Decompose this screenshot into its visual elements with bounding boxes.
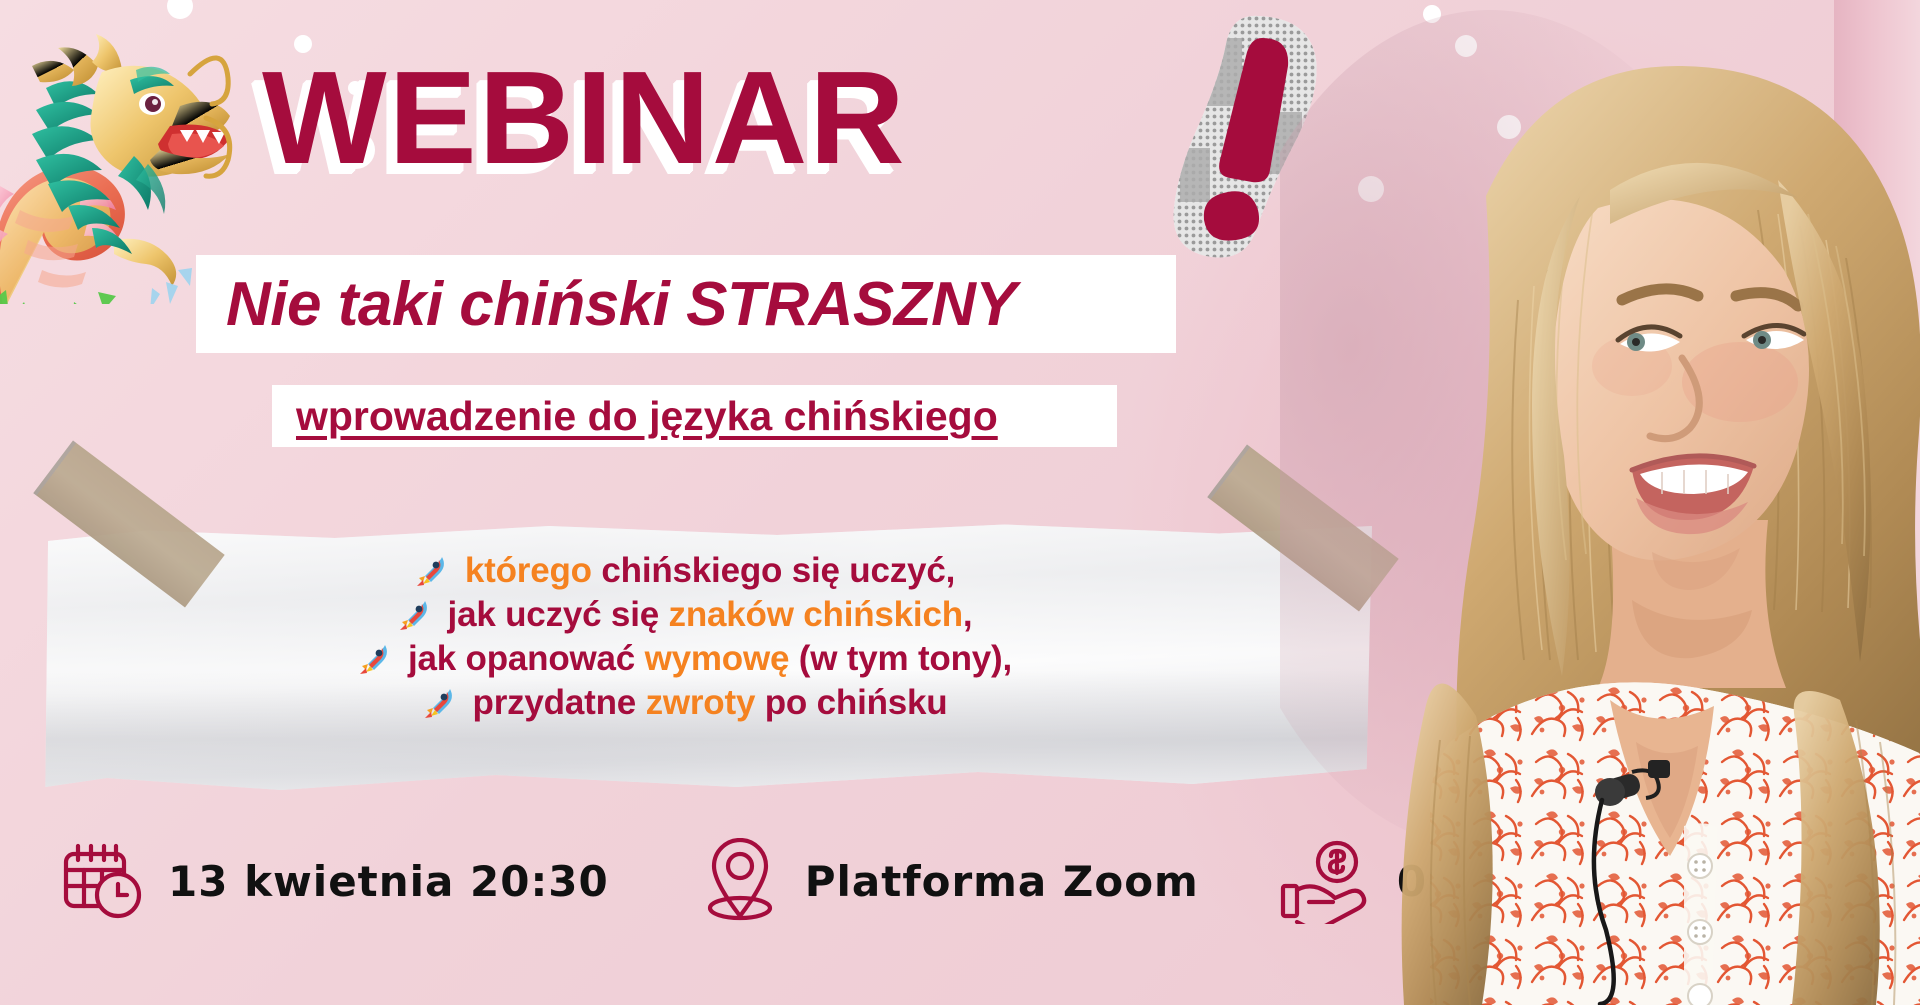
rocket-icon <box>423 686 457 720</box>
event-details-row: 13 kwietnia 20:30 Platforma Zoom 0 zł <box>60 838 1485 924</box>
rocket-icon <box>415 554 449 588</box>
location-pin-icon <box>697 838 783 924</box>
list-item: którego chińskiego się uczyć, <box>415 551 955 591</box>
page-title: WEBINAR <box>262 52 907 184</box>
list-item-label: jak uczyć się znaków chińskich, <box>448 595 973 635</box>
intro-band: wprowadzenie do języka chińskiego <box>272 385 1117 447</box>
presenter-photo <box>1280 0 1920 1005</box>
torn-paper-banner: którego chińskiego się uczyć, jak uczyć … <box>40 505 1380 805</box>
calendar-clock-icon <box>60 838 146 924</box>
list-item-label: jak opanować wymowę (w tym tony), <box>408 639 1012 679</box>
event-detail-label: Platforma Zoom <box>805 857 1199 906</box>
event-detail-label: 13 kwietnia 20:30 <box>168 857 609 906</box>
poster-canvas: WEBINAR Nie taki chiński STRASZNY wprowa… <box>0 0 1920 1005</box>
subtitle-text: Nie taki chiński STRASZNY <box>226 269 1016 340</box>
rocket-icon <box>398 598 432 632</box>
intro-text: wprowadzenie do języka chińskiego <box>296 393 998 440</box>
list-item-label: przydatne zwroty po chińsku <box>473 683 948 723</box>
subtitle-band: Nie taki chiński STRASZNY <box>196 255 1176 353</box>
list-item-label: którego chińskiego się uczyć, <box>465 551 955 591</box>
event-detail-location-pin: Platforma Zoom <box>697 838 1199 924</box>
event-detail-calendar-clock: 13 kwietnia 20:30 <box>60 838 609 924</box>
list-item: przydatne zwroty po chińsku <box>423 683 948 723</box>
list-item: jak opanować wymowę (w tym tony), <box>358 639 1012 679</box>
bullet-list: którego chińskiego się uczyć, jak uczyć … <box>40 551 1330 723</box>
list-item: jak uczyć się znaków chińskich, <box>398 595 973 635</box>
rocket-icon <box>358 642 392 676</box>
